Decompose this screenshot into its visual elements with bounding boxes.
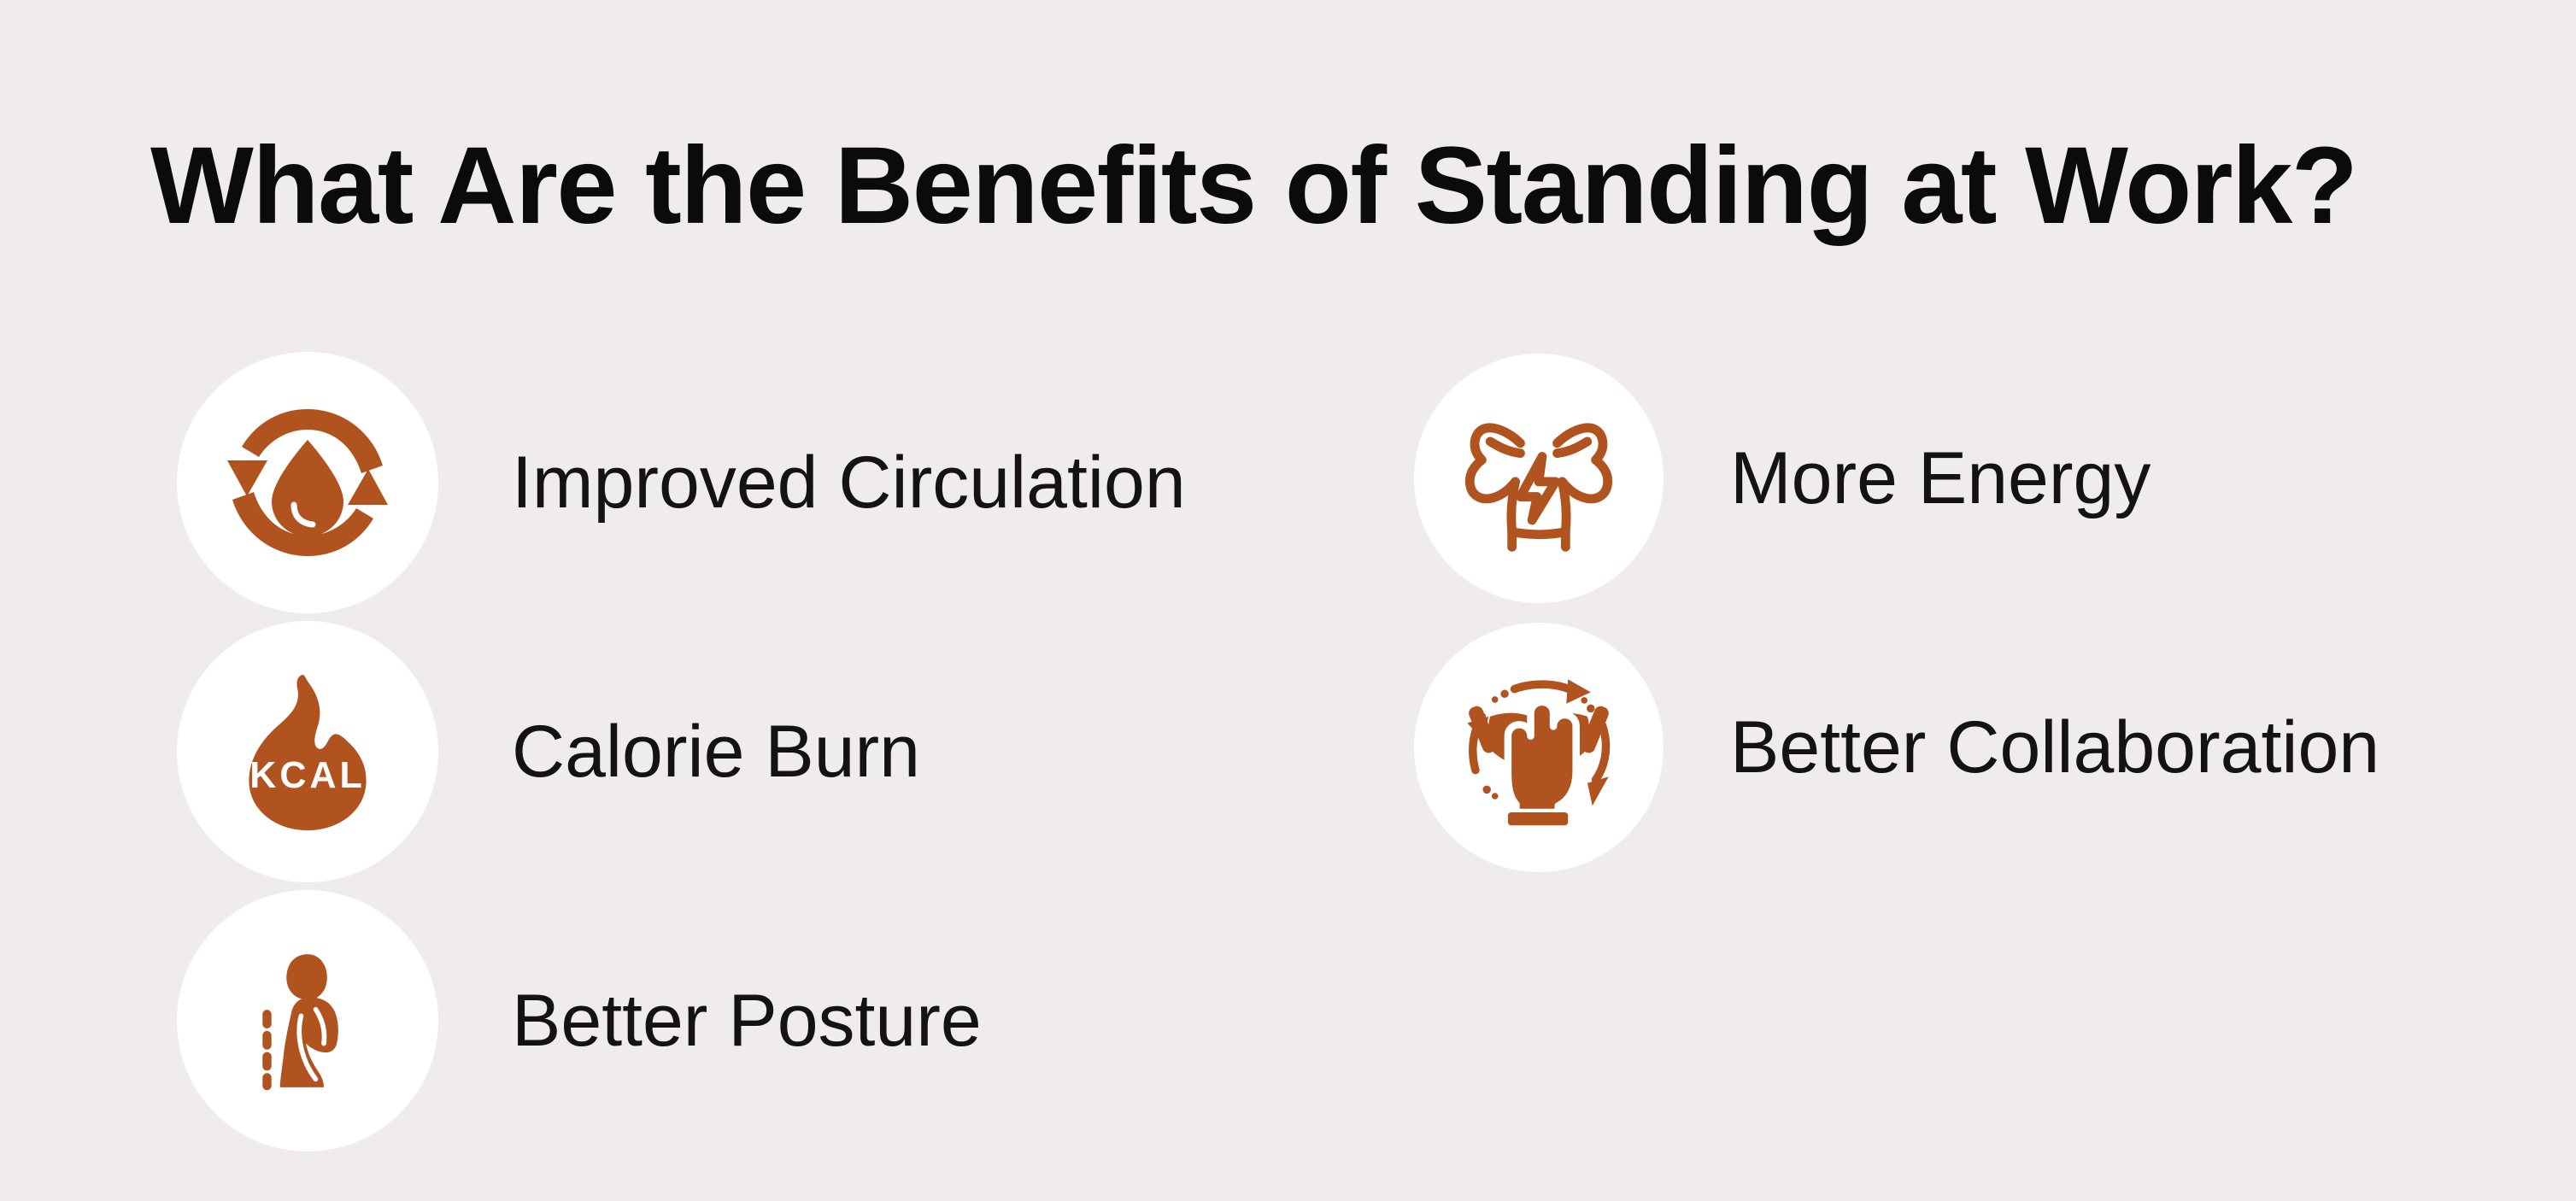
benefit-item-more-energy: More Energy [1414, 354, 2151, 603]
stacked-hands-teamwork-icon [1458, 666, 1620, 829]
flexing-arms-lightning-icon [1455, 395, 1622, 562]
icon-badge: KCAL [177, 621, 438, 882]
benefit-label: Improved Circulation [512, 446, 1186, 519]
standing-person-posture-icon [226, 940, 389, 1102]
infographic-canvas: What Are the Benefits of Standing at Wor… [0, 0, 2576, 1201]
benefit-label: Calorie Burn [512, 715, 920, 788]
icon-badge [177, 352, 438, 613]
benefit-item-improved-circulation: Improved Circulation [177, 352, 1186, 613]
benefit-item-calorie-burn: KCAL Calorie Burn [177, 621, 920, 882]
icon-badge [1414, 354, 1664, 603]
benefit-item-better-collaboration: Better Collaboration [1414, 623, 2379, 872]
circulation-recycle-droplet-icon [222, 397, 393, 568]
icon-badge [177, 890, 438, 1151]
icon-badge [1414, 623, 1664, 872]
benefit-label: More Energy [1730, 442, 2151, 515]
benefit-label: Better Collaboration [1730, 711, 2379, 784]
page-title: What Are the Benefits of Standing at Wor… [150, 126, 2457, 246]
flame-icon-label: KCAL [249, 755, 365, 796]
benefit-item-better-posture: Better Posture [177, 890, 982, 1151]
flame-kcal-icon: KCAL [224, 668, 391, 835]
benefit-label: Better Posture [512, 984, 982, 1057]
